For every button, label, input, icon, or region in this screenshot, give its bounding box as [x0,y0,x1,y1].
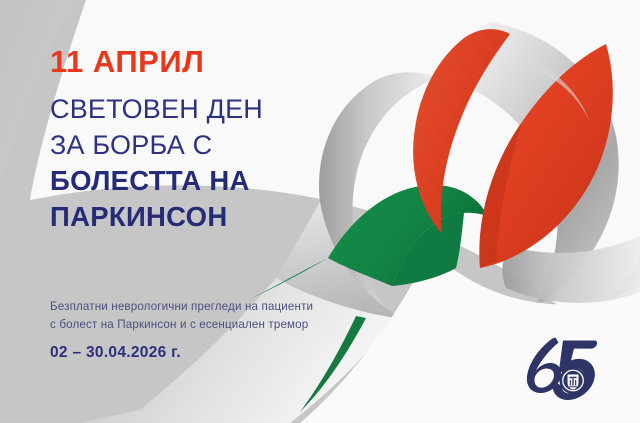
campaign-date-range: 02 – 30.04.2026 г. [50,344,400,362]
details-line-2: с болест на Паркинсон и с есенциален тре… [50,316,400,334]
headline-block: 11 АПРИЛ СВЕТОВЕН ДЕН ЗА БОРБА С БОЛЕСТТ… [50,46,380,235]
anniversary-logo-graphic [516,330,608,410]
headline-line-2: ЗА БОРБА С [50,127,380,163]
details-block: Безплатни неврологични прегледи на пацие… [50,298,400,362]
headline-line-1: СВЕТОВЕН ДЕН [50,91,380,127]
anniversary-logo [516,330,608,410]
headline-line-3: БОЛЕСТТА НА [50,163,380,199]
headline-line-4: ПАРКИНСОН [50,199,380,235]
headline-date: 11 АПРИЛ [50,46,380,77]
poster-canvas: 11 АПРИЛ СВЕТОВЕН ДЕН ЗА БОРБА С БОЛЕСТТ… [0,0,640,423]
details-line-1: Безплатни неврологични прегледи на пацие… [50,298,400,316]
